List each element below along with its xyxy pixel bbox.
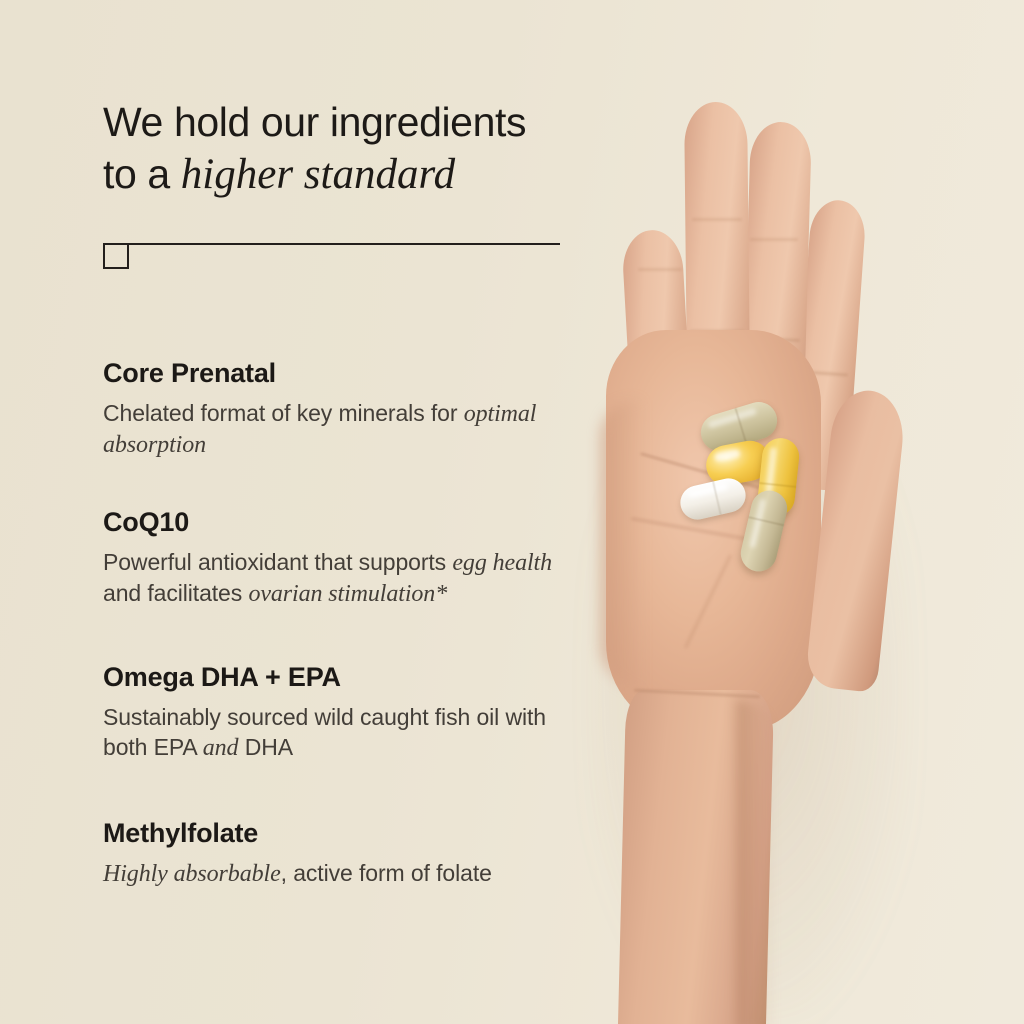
list-item: Omega DHA + EPA Sustainably sourced wild… [103, 661, 583, 763]
divider [103, 243, 560, 277]
pill-highlight [749, 498, 766, 548]
pill-highlight [688, 483, 729, 499]
ingredient-name-methylfolate: Methylfolate [103, 817, 583, 849]
headline-emphasis: higher standard [181, 151, 455, 198]
forearm-shading [736, 700, 776, 1024]
finger-joint-ring [750, 238, 798, 241]
finger-joint-index [638, 268, 682, 271]
desc-text-middle: and facilitates [103, 580, 248, 606]
hand-photo [560, 0, 1024, 1024]
desc-text: Powerful antioxidant that supports [103, 549, 452, 575]
desc-text-suffix: , active form of folate [281, 860, 492, 886]
desc-text: Sustainably sourced wild caught fish oil… [103, 704, 546, 760]
desc-emphasis: egg health [452, 550, 552, 576]
ingredient-desc-coq10: Powerful antioxidant that supports egg h… [103, 547, 573, 609]
desc-text: Chelated format of key minerals for [103, 400, 464, 426]
divider-rule [103, 243, 560, 245]
ingredient-desc-methylfolate: Highly absorbable, active form of folate [103, 858, 573, 889]
page-title: We hold our ingredients to a higher stan… [103, 96, 583, 201]
ingredient-desc-omega: Sustainably sourced wild caught fish oil… [103, 702, 573, 763]
ingredient-name-core-prenatal: Core Prenatal [103, 357, 583, 389]
ingredient-name-omega: Omega DHA + EPA [103, 661, 583, 693]
divider-square-icon [103, 243, 129, 269]
desc-emphasis: Highly absorbable [103, 861, 281, 887]
pill-seam [759, 482, 796, 488]
marketing-slide: We hold our ingredients to a higher stan… [0, 0, 1024, 1024]
list-item: Core Prenatal Chelated format of key min… [103, 357, 583, 460]
desc-text-suffix: DHA [238, 734, 293, 760]
headline-line-1: We hold our ingredients [103, 99, 526, 145]
ingredient-name-coq10: CoQ10 [103, 506, 583, 538]
pill-highlight [714, 448, 741, 462]
desc-emphasis: and [203, 735, 239, 761]
finger-joint-middle [692, 218, 742, 221]
pill-highlight [765, 447, 777, 495]
ingredient-list: Core Prenatal Chelated format of key min… [103, 357, 583, 889]
list-item: Methylfolate Highly absorbable, active f… [103, 817, 583, 889]
list-item: CoQ10 Powerful antioxidant that supports… [103, 506, 583, 609]
ingredient-desc-core-prenatal: Chelated format of key minerals for opti… [103, 398, 573, 460]
palm-left-shading [600, 400, 644, 690]
headline-line-2-prefix: to a [103, 151, 181, 197]
text-column: We hold our ingredients to a higher stan… [103, 96, 583, 889]
desc-emphasis-2: ovarian stimulation* [248, 581, 447, 607]
